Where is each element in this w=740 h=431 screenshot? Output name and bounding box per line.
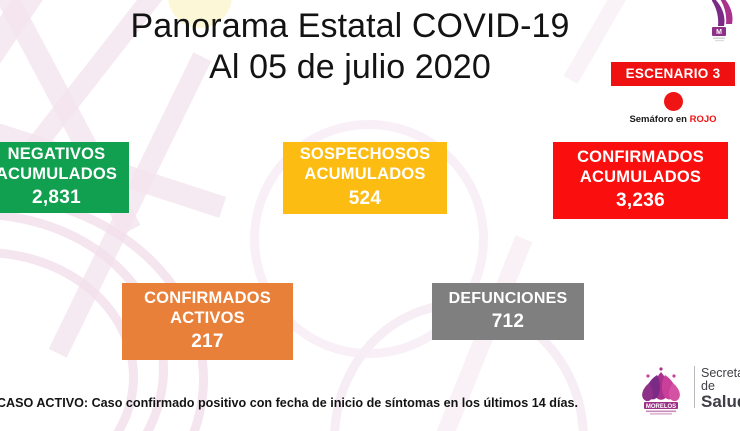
stat-card-confirmados-activos: CONFIRMADOS ACTIVOS 217 [122, 283, 293, 360]
stat-label-line1: CONFIRMADOS [144, 289, 271, 309]
escenario-indicator: ESCENARIO 3 Semáforo en ROJO [608, 62, 738, 125]
stat-label-line2: ACUMULADOS [0, 165, 117, 185]
red-circle-icon [664, 92, 683, 111]
semaforo-caption: Semáforo en ROJO [608, 114, 738, 125]
stat-card-negativos-acumulados: NEGATIVOS ACUMULADOS 2,831 [0, 142, 129, 213]
secretaria-line2: Salud [701, 393, 740, 411]
footnote-caso-activo: *CASO ACTIVO: Caso confirmado positivo c… [0, 396, 578, 410]
stat-label-line1: SOSPECHOSOS [300, 145, 431, 165]
stat-label-line1: DEFUNCIONES [449, 289, 568, 308]
logo-divider [694, 366, 695, 408]
stat-label-line2: ACTIVOS [170, 309, 245, 329]
stat-label-line2: ACUMULADOS [304, 165, 425, 185]
stat-label-line2: ACUMULADOS [580, 168, 701, 188]
stat-value: 3,236 [616, 190, 665, 213]
svg-text:M: M [716, 29, 722, 36]
morelos-state-emblem-icon: MORELOS [632, 362, 690, 420]
stat-value: 712 [492, 311, 525, 334]
page-title: Panorama Estatal COVID-19 [0, 6, 700, 47]
covid-dashboard-slide: Panorama Estatal COVID-19 Al 05 de julio… [0, 0, 740, 431]
escenario-badge: ESCENARIO 3 [611, 62, 735, 86]
page-subtitle: Al 05 de julio 2020 [0, 47, 700, 88]
secretaria-salud-wordmark: Secretaría de Salud [701, 367, 740, 411]
morelos-mark-icon: M [712, 0, 740, 44]
stat-card-defunciones: DEFUNCIONES 712 [432, 283, 584, 340]
svg-text:MORELOS: MORELOS [646, 404, 676, 410]
stat-card-sospechosos-acumulados: SOSPECHOSOS ACUMULADOS 524 [283, 142, 447, 214]
semaforo-status-badge: ROJO [690, 114, 717, 125]
semaforo-caption-prefix: Semáforo en [629, 114, 689, 125]
stat-label-line1: NEGATIVOS [8, 145, 106, 165]
secretaria-line1: Secretaría de [701, 367, 740, 393]
stat-value: 217 [191, 331, 224, 354]
stat-value: 524 [349, 188, 382, 211]
stat-card-confirmados-acumulados: CONFIRMADOS ACUMULADOS 3,236 [553, 142, 728, 219]
slide-title-block: Panorama Estatal COVID-19 Al 05 de julio… [0, 6, 700, 89]
stat-label-line1: CONFIRMADOS [577, 148, 704, 168]
stat-value: 2,831 [32, 187, 81, 210]
